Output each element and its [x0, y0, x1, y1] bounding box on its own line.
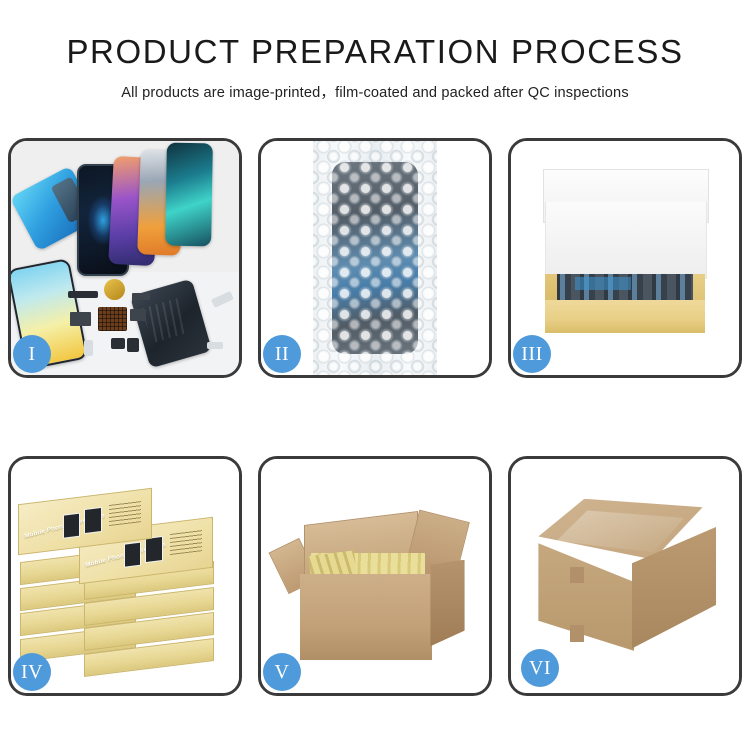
process-step-panel-1: I: [8, 138, 242, 378]
carton-front-panel: [300, 574, 432, 661]
repair-part-sim-tray: [84, 340, 93, 356]
sealed-carton-handle-tab-upper: [570, 567, 584, 583]
retail-box-spec-lines: [109, 499, 141, 526]
header: PRODUCT PREPARATION PROCESS All products…: [0, 0, 750, 102]
teal-gradient-screen-image: [165, 143, 212, 247]
step-badge-2: II: [263, 335, 301, 373]
sealed-carton-handle-tab-lower: [570, 625, 584, 641]
process-step-panel-3: III: [508, 138, 742, 378]
process-step-grid: I II III: [8, 138, 742, 736]
retail-box-screen-thumb: [124, 541, 142, 568]
process-step-panel-4: Mobile Phone Spare Parts Mobile Phone Sp…: [8, 456, 242, 696]
retail-box-screen-thumb: [62, 513, 80, 540]
bubble-pattern-back: [313, 141, 436, 375]
repair-part-flex-cable-b: [132, 293, 150, 300]
repair-part-gold-coil: [104, 279, 125, 300]
page-subtitle: All products are image-printed，film-coat…: [0, 81, 750, 102]
repair-part-connector: [68, 291, 98, 298]
repair-part-flex-cable-c: [130, 309, 146, 321]
step-badge-3: III: [513, 335, 551, 373]
step-badge-1: I: [13, 335, 51, 373]
repair-part-battery: [127, 338, 138, 352]
process-step-panel-2: II: [258, 138, 492, 378]
step-badge-4: IV: [13, 653, 51, 691]
repair-part-speaker: [111, 338, 125, 350]
repair-part-flex-cable-a: [70, 312, 91, 326]
repair-part-screws: [207, 342, 223, 349]
process-step-panel-6: VI: [508, 456, 742, 696]
retail-box-screen-thumb: [84, 508, 102, 535]
process-step-panel-5: V: [258, 456, 492, 696]
repair-part-screw-tray: [98, 307, 128, 330]
mailer-inner-wall: [545, 202, 707, 279]
kraft-box-front-panel: [545, 300, 705, 333]
retail-box-screen-thumb: [145, 536, 163, 563]
step-badge-5: V: [263, 653, 301, 691]
page-title: PRODUCT PREPARATION PROCESS: [0, 34, 750, 71]
step-badge-6: VI: [521, 649, 559, 687]
retail-box-spec-lines: [170, 528, 202, 555]
